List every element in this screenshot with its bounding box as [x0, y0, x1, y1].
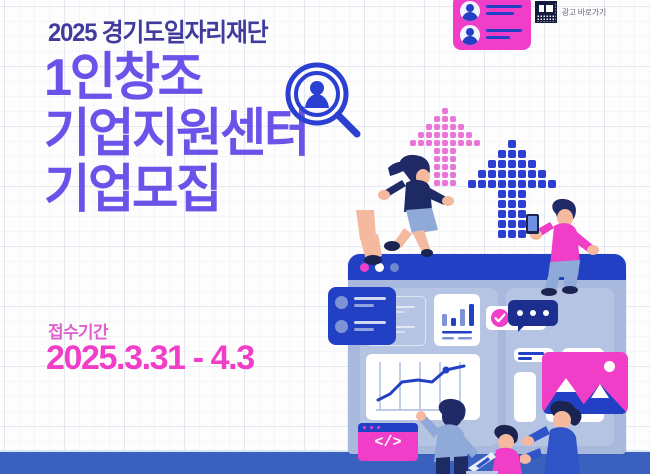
card-line	[486, 12, 514, 15]
mini-bar-chart	[434, 294, 480, 346]
person-child-laptop-illustration	[466, 424, 540, 474]
qr-code-icon[interactable]	[535, 1, 557, 23]
check-circle-icon	[491, 309, 509, 327]
headline-line-1: 1인창조	[44, 50, 308, 106]
code-glyph: </>	[358, 434, 418, 451]
card-line	[486, 5, 522, 8]
card-line	[486, 29, 522, 32]
application-period-date: 2025.3.31 - 4.3	[46, 339, 254, 378]
accent-line	[518, 352, 544, 355]
illustration-stage: </>	[320, 0, 650, 474]
poster-canvas: </>	[0, 0, 650, 474]
code-window-titlebar	[358, 423, 418, 432]
headline-line-3: 기업모집	[44, 162, 308, 218]
chat-bubble-icon	[508, 300, 558, 326]
avatar	[460, 25, 480, 45]
headline-line-2: 기업지원센터	[44, 106, 308, 162]
accent-line	[518, 357, 532, 360]
ad-link-badge[interactable]: 광고 바로가기	[535, 1, 606, 23]
profile-card	[453, 0, 531, 50]
card-line	[486, 36, 510, 39]
ad-link-label[interactable]: 광고 바로가기	[562, 7, 606, 18]
avatar	[460, 1, 480, 21]
person-with-phone-illustration	[516, 196, 600, 296]
person-search-icon	[283, 60, 365, 142]
bar-chart-card	[434, 294, 480, 346]
code-window-icon: </>	[358, 423, 418, 461]
organization-subtitle: 2025 경기도일자리재단	[48, 13, 267, 49]
page-title: 1인창조 기업지원센터 기업모집	[44, 50, 316, 218]
